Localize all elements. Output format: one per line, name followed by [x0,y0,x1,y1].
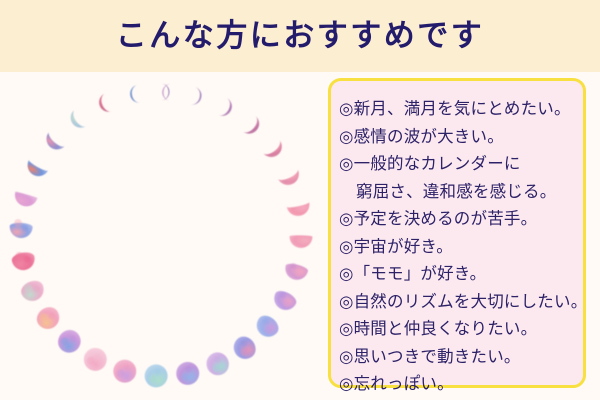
moon-waning-crescent [129,85,141,104]
recommendation-item: ◎予定を決めるのが苦手。 [339,205,579,233]
moon-waxing-gibbous [283,261,309,282]
moon-phase-circle [2,74,320,398]
moon-waxing-crescent [218,98,235,119]
recommendation-item: ◎忘れっぽい。 [339,370,579,398]
moon-waning-gibbous [11,249,37,272]
moon-almost-full-moon [203,349,233,379]
moon-waxing-crescent [243,116,263,138]
moon-waning-crescent [67,109,87,131]
moon-waning-crescent [24,160,49,180]
recommendation-item: ◎時間と仲良くなりたい。 [339,315,579,343]
recommendation-item: ◎「モモ」が好き。 [339,260,579,288]
moon-waning-gibbous [53,325,85,357]
recommendation-card: ◎新月、満月を気にとめたい。◎感情の波が大きい。◎一般的なカレンダーに窮屈さ、違… [328,78,586,388]
moon-full-moon [80,344,111,375]
moon-waxing-gibbous [289,235,312,248]
moon-waxing-crescent [263,140,286,161]
recommendation-item: ◎思いつきで動きたい。 [339,343,579,371]
recommendation-list: ◎新月、満月を気にとめたい。◎感情の波が大きい。◎一般的なカレンダーに窮屈さ、違… [331,81,583,385]
page-title: こんな方におすすめです [0,0,600,72]
moon-full-moon [111,357,139,385]
moon-waxing-gibbous [252,312,282,342]
moon-full-moon [174,360,201,387]
moon-waning-gibbous [9,219,33,239]
moon-full-moon [144,364,168,388]
moon-waxing-gibbous [270,288,298,314]
header-band: こんな方におすすめです [0,0,600,72]
moon-waxing-gibbous [229,332,260,363]
recommendation-item: ◎感情の波が大きい。 [339,123,579,151]
recommendation-item: ◎新月、満月を気にとめたい。 [339,95,579,123]
moon-waning-gibbous [18,278,47,305]
moon-last-quarter [12,191,37,209]
moon-waning-crescent [96,94,112,115]
moon-waning-gibbous [33,303,64,334]
moon-waxing-crescent [278,169,303,188]
recommendation-item: ◎一般的なカレンダーに [339,150,579,178]
moon-waxing-crescent [190,87,203,107]
recommendation-item: 窮屈さ、違和感を感じる。 [339,178,579,206]
recommendation-item: ◎自然のリズムを大切にしたい。 [339,288,579,316]
poster-canvas: こんな方におすすめです ◎新月、満月を気にとめたい。◎感情の波が大きい。◎一般的… [0,0,600,400]
moon-waning-crescent [42,132,65,154]
recommendation-item: ◎宇宙が好き。 [339,233,579,261]
moon-first-quarter [287,202,312,218]
